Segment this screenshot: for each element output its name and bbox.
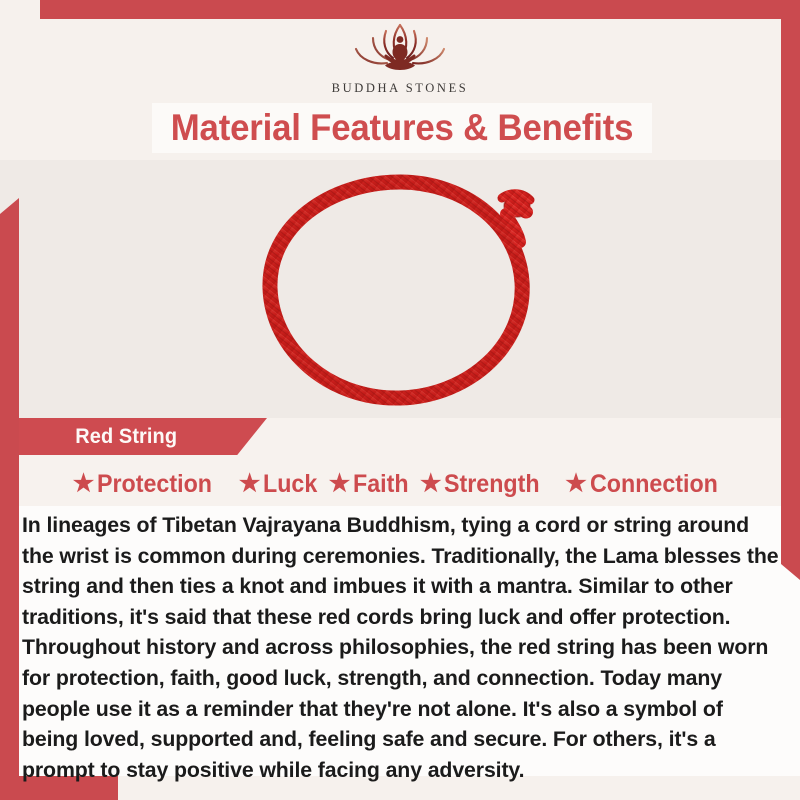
star-icon: ★: [565, 472, 587, 496]
cord-loop-shading: [270, 182, 522, 398]
brand-logo: BUDDHA STONES: [0, 18, 800, 100]
benefit-protection: ★ Protection: [73, 470, 221, 499]
benefit-label: Protection: [97, 470, 212, 499]
product-photo: [230, 170, 570, 420]
benefit-label: Connection: [590, 470, 718, 499]
brand-wordmark: BUDDHA STONES: [332, 81, 469, 96]
top-red-border-accent: [40, 0, 800, 19]
star-icon: ★: [420, 472, 442, 496]
benefit-label: Faith: [353, 470, 409, 499]
benefit-faith: ★ Faith: [329, 470, 413, 499]
page-title-banner: Material Features & Benefits: [152, 103, 652, 153]
lotus-meditation-icon: [325, 18, 475, 80]
product-label-banner: Red String: [19, 418, 267, 455]
benefits-row: ★ Protection ★ Luck ★ Faith ★ Strength ★…: [0, 462, 800, 506]
benefit-label: Luck: [263, 470, 317, 499]
benefit-connection: ★ Connection: [565, 470, 727, 499]
product-label: Red String: [23, 425, 177, 449]
description-paragraph: In lineages of Tibetan Vajrayana Buddhis…: [22, 510, 782, 785]
star-icon: ★: [239, 472, 261, 496]
infographic-canvas: BUDDHA STONES Material Features & Benefi…: [0, 0, 800, 800]
benefit-label: Strength: [444, 470, 540, 499]
benefit-strength: ★ Strength: [420, 470, 547, 499]
page-title: Material Features & Benefits: [171, 107, 633, 149]
star-icon: ★: [329, 472, 351, 496]
benefit-luck: ★ Luck: [239, 470, 322, 499]
star-icon: ★: [73, 472, 95, 496]
red-string-braided-bracelet-photo: [230, 170, 570, 420]
